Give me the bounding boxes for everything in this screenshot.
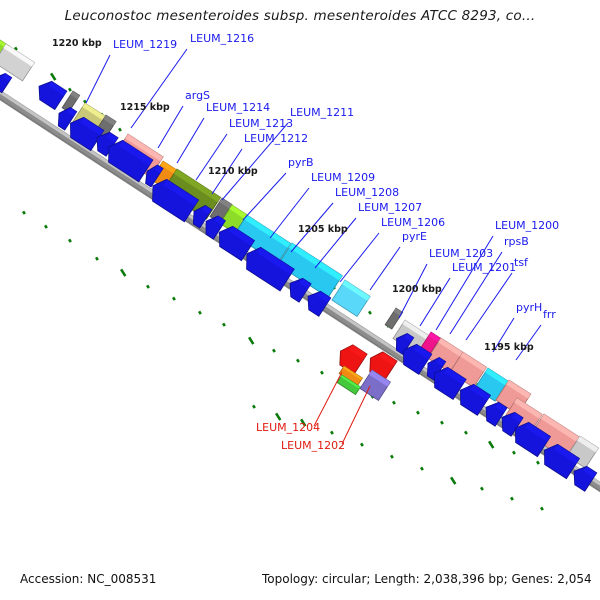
- axis-tick-label: 1205 kbp: [298, 224, 348, 235]
- gene-label[interactable]: LEUM_1207: [358, 201, 422, 214]
- label-leader-line: [86, 55, 110, 103]
- gene-label[interactable]: pyrH: [516, 301, 542, 314]
- genome-map-canvas[interactable]: 1220 kbp1215 kbp1210 kbp1205 kbp1200 kbp…: [0, 0, 600, 560]
- feature-tick: [296, 359, 300, 363]
- feature-tick: [540, 507, 544, 511]
- axis-tick-label: 1210 kbp: [208, 166, 258, 177]
- gene-label[interactable]: LEUM_1201: [452, 261, 516, 274]
- gene-label[interactable]: frr: [543, 308, 556, 321]
- feature-tick: [512, 451, 516, 455]
- label-leader-line: [243, 173, 286, 220]
- forward-strand-genes[interactable]: [0, 40, 598, 468]
- feature-tick: [172, 297, 176, 301]
- label-leader-line: [342, 386, 370, 444]
- gene-label[interactable]: LEUM_1213: [229, 117, 293, 130]
- feature-tick: [198, 311, 202, 315]
- feature-tick: [320, 371, 324, 375]
- feature-tick: [120, 269, 126, 277]
- accession-text: Accession: NC_008531: [20, 572, 156, 586]
- gene-label[interactable]: LEUM_1212: [244, 132, 308, 145]
- feature-tick: [275, 413, 281, 421]
- axis-tick-label: 1220 kbp: [52, 38, 102, 49]
- feature-tick: [390, 455, 394, 459]
- gene-label[interactable]: pyrB: [288, 156, 314, 169]
- label-leader-line: [131, 49, 187, 128]
- gene-label[interactable]: LEUM_1209: [311, 171, 375, 184]
- feature-tick: [330, 431, 334, 435]
- feature-tick: [510, 497, 514, 501]
- axis-tick-label: 1195 kbp: [484, 342, 534, 353]
- feature-tick: [222, 323, 226, 327]
- feature-tick: [480, 487, 484, 491]
- feature-tick: [488, 441, 494, 449]
- genome-map-viewer: Leuconostoc mesenteroides subsp. mesente…: [0, 0, 600, 600]
- label-leader-line: [466, 273, 512, 340]
- feature-tick: [50, 73, 56, 81]
- label-leader-line: [177, 118, 204, 163]
- feature-tick: [68, 88, 72, 92]
- feature-tick: [95, 257, 99, 261]
- gene-label[interactable]: rpsB: [504, 235, 529, 248]
- feature-tick: [420, 467, 424, 471]
- gene-label[interactable]: LEUM_1202: [281, 439, 345, 452]
- gene-label[interactable]: LEUM_1214: [206, 101, 270, 114]
- gene-label[interactable]: LEUM_1216: [190, 32, 254, 45]
- gene-label[interactable]: tsf: [514, 256, 529, 269]
- status-bar: Accession: NC_008531 Topology: circular;…: [0, 558, 600, 600]
- gene-feature-forward[interactable]: [385, 308, 403, 329]
- feature-tick: [392, 401, 396, 405]
- axis-tick-label: 1215 kbp: [120, 102, 170, 113]
- feature-tick: [68, 239, 72, 243]
- gene-feature-reverse[interactable]: [0, 70, 12, 93]
- feature-tick: [440, 421, 444, 425]
- gene-label[interactable]: LEUM_1211: [290, 106, 354, 119]
- feature-tick: [464, 431, 468, 435]
- axis-tick-labels: 1220 kbp1215 kbp1210 kbp1205 kbp1200 kbp…: [52, 38, 534, 353]
- gene-label[interactable]: LEUM_1203: [429, 247, 493, 260]
- gene-label[interactable]: LEUM_1200: [495, 219, 559, 232]
- gene-feature-highlighted[interactable]: [334, 341, 367, 374]
- feature-tick: [450, 477, 456, 485]
- axis-tick-label: 1200 kbp: [392, 284, 442, 295]
- gene-label[interactable]: LEUM_1219: [113, 38, 177, 51]
- feature-tick: [272, 349, 276, 353]
- label-leader-line: [340, 233, 379, 282]
- gene-label[interactable]: LEUM_1204: [256, 421, 320, 434]
- feature-tick: [536, 461, 540, 465]
- feature-tick: [416, 411, 420, 415]
- label-leader-line: [314, 372, 342, 426]
- feature-tick: [118, 128, 122, 132]
- gene-label[interactable]: LEUM_1206: [381, 216, 445, 229]
- feature-tick: [360, 443, 364, 447]
- gene-label[interactable]: pyrE: [402, 230, 427, 243]
- gene-feature-reverse[interactable]: [33, 77, 67, 110]
- feature-tick: [252, 405, 256, 409]
- feature-tick: [146, 285, 150, 289]
- topology-text: Topology: circular; Length: 2,038,396 bp…: [262, 572, 592, 586]
- feature-tick: [368, 311, 372, 315]
- feature-tick: [248, 337, 254, 345]
- feature-tick: [22, 211, 26, 215]
- gene-label[interactable]: LEUM_1208: [335, 186, 399, 199]
- feature-tick: [44, 225, 48, 229]
